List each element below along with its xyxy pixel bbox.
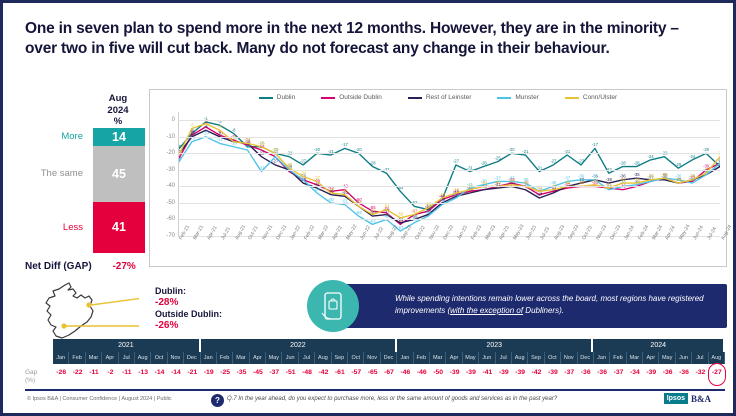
chart-y-tick-label: -40 bbox=[166, 183, 175, 189]
chart-series-lines: -18-8-1-3-8-16-16-20-22-27-20-21-17-20-2… bbox=[178, 112, 720, 236]
chart-data-label: -59 bbox=[397, 212, 404, 217]
timeline-gap-cell: -26 bbox=[53, 364, 69, 385]
footer-source: © Ipsos B&A | Consumer Confidence | Augu… bbox=[27, 396, 172, 402]
timeline-gap-cell: -46 bbox=[414, 364, 430, 385]
timeline-month-cell: Nov bbox=[364, 352, 380, 364]
chart-data-label: -16 bbox=[258, 141, 265, 146]
timeline-gap-cell: -50 bbox=[430, 364, 446, 385]
chart-y-axis bbox=[178, 112, 179, 236]
bar-segment-more-label: More bbox=[61, 131, 83, 142]
timeline-gap-cell: -2 bbox=[102, 364, 118, 385]
chart-data-label: -37 bbox=[314, 175, 321, 180]
footer-question: Q.7 In the year ahead, do you expect to … bbox=[227, 396, 557, 402]
timeline-gap-cell: -37 bbox=[610, 364, 626, 385]
chart-data-label: -20 bbox=[314, 147, 321, 152]
timeline-year-2024: 2024 bbox=[593, 339, 725, 352]
chart-y-tick-label: -30 bbox=[166, 167, 175, 173]
timeline-gap-cell: -11 bbox=[119, 364, 135, 385]
gap-label-line-1: Gap bbox=[25, 369, 53, 377]
legend-item-3[interactable]: Munster bbox=[497, 94, 538, 101]
commentary-text-part2: Dubliners). bbox=[523, 306, 564, 315]
chart-data-label: -44 bbox=[453, 187, 460, 192]
chart-data-label: -28 bbox=[481, 160, 488, 165]
timeline-gap-cell: -46 bbox=[397, 364, 413, 385]
chart-data-label: -8 bbox=[232, 127, 236, 132]
commentary-text: While spending intentions remain lower a… bbox=[395, 293, 717, 316]
timeline-month-cell: Feb bbox=[414, 352, 430, 364]
chart-data-label: -25 bbox=[495, 155, 502, 160]
chart-data-label: -50 bbox=[328, 197, 335, 202]
legend-label: Outside Dublin bbox=[339, 94, 382, 101]
chart-y-tick-label: -20 bbox=[166, 150, 175, 156]
timeline-month-cell: Dec bbox=[184, 352, 200, 364]
timeline-month-cell: Jun bbox=[479, 352, 495, 364]
chart-data-label: -60 bbox=[383, 213, 390, 218]
timeline-month-cell: Oct bbox=[151, 352, 167, 364]
stacked-bar-chart: More 14 The same 45 Less 41 bbox=[93, 128, 145, 253]
timeline-gap-cell: -37 bbox=[561, 364, 577, 385]
timeline-month-cell: Aug bbox=[709, 352, 725, 364]
chart-data-label: -38 bbox=[634, 177, 641, 182]
chart-data-label: -40 bbox=[564, 180, 571, 185]
timeline-month-cell: May bbox=[463, 352, 479, 364]
chart-data-label: -34 bbox=[300, 170, 307, 175]
chart-gridline bbox=[178, 186, 720, 187]
net-diff-label: Net Diff (GAP) bbox=[25, 261, 92, 272]
chart-data-label: -17 bbox=[342, 142, 349, 147]
bar-segment-less: Less 41 bbox=[93, 202, 145, 253]
line-chart-panel: DublinOutside DublinRest of LeinsterMuns… bbox=[149, 89, 727, 267]
timeline-month-cell: Oct bbox=[545, 352, 561, 364]
commentary-icon-circle bbox=[307, 280, 359, 332]
chart-data-label: -45 bbox=[342, 189, 349, 194]
footer-divider bbox=[25, 389, 725, 391]
chart-data-label: -27 bbox=[578, 159, 585, 164]
chart-data-label: -27 bbox=[453, 159, 460, 164]
timeline-month-cell: Jan bbox=[201, 352, 217, 364]
chart-data-label: -54 bbox=[383, 203, 390, 208]
timeline-gap-cell: -11 bbox=[86, 364, 102, 385]
page-title: One in seven plan to spend more in the n… bbox=[25, 19, 685, 59]
chart-data-label: -17 bbox=[592, 142, 599, 147]
chart-data-label: -39 bbox=[592, 179, 599, 184]
timeline-month-cell: Dec bbox=[381, 352, 397, 364]
chart-data-label: -39 bbox=[509, 179, 516, 184]
chart-data-label: -20 bbox=[272, 147, 279, 152]
callout-dublin: Dublin: -28% bbox=[155, 286, 186, 310]
timeline-gap-cell: -14 bbox=[151, 364, 167, 385]
timeline-month-cell: Dec bbox=[578, 352, 594, 364]
chart-gridline bbox=[178, 219, 720, 220]
timeline-month-cell: Jul bbox=[119, 352, 135, 364]
chart-data-label: -14 bbox=[244, 137, 251, 142]
chart-data-label: -28 bbox=[370, 160, 377, 165]
chart-data-label: -24 bbox=[647, 154, 654, 159]
ireland-map-icon bbox=[29, 281, 139, 343]
chart-data-label: -57 bbox=[370, 208, 377, 213]
timeline-table: 2021202220232024 JanFebMarAprJulAugOctNo… bbox=[25, 339, 725, 385]
chart-data-label: -38 bbox=[675, 177, 682, 182]
chart-data-label: -40 bbox=[481, 180, 488, 185]
map-dot-outside-dublin bbox=[61, 323, 66, 328]
callout-outside-dublin: Outside Dublin: -26% bbox=[155, 309, 222, 333]
chart-data-label: -40 bbox=[578, 180, 585, 185]
timeline-gap-cells: -26-22-11-2-11-13-14-14-21-19-25-35-45-3… bbox=[53, 364, 725, 385]
chart-y-tick-label: -70 bbox=[166, 233, 175, 239]
timeline-gap-cell: -39 bbox=[463, 364, 479, 385]
timeline-month-cell: Jan bbox=[397, 352, 413, 364]
legend-item-1[interactable]: Outside Dublin bbox=[321, 94, 382, 101]
bar-segment-less-value: 41 bbox=[112, 220, 126, 234]
timeline-gap-cell: -39 bbox=[512, 364, 528, 385]
chart-data-label: -47 bbox=[536, 192, 543, 197]
timeline-gap-cell: -45 bbox=[250, 364, 266, 385]
legend-label: Dublin bbox=[277, 94, 295, 101]
ba-logo: B&A bbox=[691, 394, 711, 404]
timeline-gap-cell: -42 bbox=[528, 364, 544, 385]
timeline-month-cell: Sep bbox=[528, 352, 544, 364]
commentary-text-underlined: with the exception of bbox=[450, 306, 523, 315]
timeline-gap-row: Gap (%) -26-22-11-2-11-13-14-14-21-19-25… bbox=[25, 364, 725, 385]
timeline-gap-cell: -21 bbox=[184, 364, 200, 385]
timeline-month-cell: Nov bbox=[168, 352, 184, 364]
column-header-line-1: Aug bbox=[87, 93, 149, 105]
legend-swatch-icon bbox=[259, 97, 273, 99]
chart-data-label: -5 bbox=[190, 122, 194, 127]
bar-segment-more: More 14 bbox=[93, 128, 145, 146]
chart-data-label: -44 bbox=[314, 187, 321, 192]
timeline-gap-cell: -67 bbox=[381, 364, 397, 385]
legend-item-0[interactable]: Dublin bbox=[259, 94, 295, 101]
net-diff-row: Net Diff (GAP) -27% bbox=[25, 261, 136, 272]
timeline-month-cell: Apr bbox=[102, 352, 118, 364]
timeline-year-2022: 2022 bbox=[201, 339, 397, 352]
commentary-banner: While spending intentions remain lower a… bbox=[325, 284, 727, 328]
bar-segment-the-same-label: The same bbox=[41, 168, 83, 179]
column-header-line-3: % bbox=[87, 116, 149, 128]
question-mark-icon: ? bbox=[211, 394, 224, 407]
timeline-month-cell: Mar bbox=[627, 352, 643, 364]
chart-data-label: -40 bbox=[522, 180, 529, 185]
timeline-month-cells: JanFebMarAprJulAugOctNovDecJanFebMarAprM… bbox=[53, 352, 725, 364]
timeline-gap-cell: -57 bbox=[348, 364, 364, 385]
chart-data-label: -35 bbox=[661, 172, 668, 177]
timeline-month-row-spacer bbox=[25, 352, 53, 364]
timeline-gap-cell: -36 bbox=[659, 364, 675, 385]
timeline-gap-cell: -32 bbox=[692, 364, 708, 385]
chart-data-label: -29 bbox=[675, 162, 682, 167]
timeline-gap-cell: -39 bbox=[496, 364, 512, 385]
chart-gridline bbox=[178, 203, 720, 204]
timeline-month-cell: May bbox=[266, 352, 282, 364]
chart-data-label: -20 bbox=[509, 147, 516, 152]
chart-data-label: -58 bbox=[356, 210, 363, 215]
timeline-month-cell: Jul bbox=[496, 352, 512, 364]
timeline-gap-cell: -65 bbox=[364, 364, 380, 385]
legend-item-2[interactable]: Rest of Leinster bbox=[408, 94, 472, 101]
timeline-month-cell: Mar bbox=[233, 352, 249, 364]
timeline-month-cell: Jan bbox=[53, 352, 69, 364]
chart-gridline bbox=[178, 137, 720, 138]
timeline-month-cell: Mar bbox=[86, 352, 102, 364]
callout-dublin-value: -28% bbox=[155, 297, 186, 310]
legend-swatch-icon bbox=[497, 97, 511, 99]
timeline-month-cell: Mar bbox=[430, 352, 446, 364]
bar-segment-the-same: The same 45 bbox=[93, 146, 145, 202]
timeline-month-cell: Sep bbox=[332, 352, 348, 364]
ireland-map bbox=[29, 281, 139, 343]
timeline-gap-cell: -35 bbox=[233, 364, 249, 385]
chart-data-label: -38 bbox=[620, 177, 627, 182]
chart-data-label: -29 bbox=[286, 162, 293, 167]
ipsos-logo: Ipsos bbox=[664, 393, 688, 404]
timeline-gap-cell: -36 bbox=[578, 364, 594, 385]
timeline-month-cell: Apr bbox=[446, 352, 462, 364]
bar-segment-the-same-value: 45 bbox=[112, 167, 126, 181]
chart-data-label: -24 bbox=[689, 154, 696, 159]
chart-data-label: -28 bbox=[620, 160, 627, 165]
chart-y-tick-label: -10 bbox=[166, 134, 175, 140]
legend-swatch-icon bbox=[321, 97, 335, 99]
timeline-gap-cell: -37 bbox=[266, 364, 282, 385]
stacked-bar-column-header: Aug 2024 % bbox=[87, 93, 149, 128]
net-diff-value: -27% bbox=[112, 261, 135, 272]
chart-data-label: -27 bbox=[300, 159, 307, 164]
chart-data-label: -44 bbox=[328, 187, 335, 192]
legend-swatch-icon bbox=[565, 97, 579, 99]
timeline-gap-cell: -13 bbox=[135, 364, 151, 385]
chart-legend: DublinOutside DublinRest of LeinsterMuns… bbox=[150, 94, 726, 101]
bar-segment-more-value: 14 bbox=[112, 130, 126, 144]
timeline-gap-cell: -41 bbox=[479, 364, 495, 385]
bar-segment-less-label: Less bbox=[63, 222, 83, 233]
mobile-shopping-icon bbox=[320, 291, 346, 321]
timeline-gap-cell: -34 bbox=[627, 364, 643, 385]
chart-gridline bbox=[178, 120, 720, 121]
callout-outside-dublin-label: Outside Dublin: bbox=[155, 309, 222, 320]
legend-item-4[interactable]: Conn/Ulster bbox=[565, 94, 617, 101]
timeline-month-cell: Apr bbox=[250, 352, 266, 364]
timeline-gap-cell: -22 bbox=[69, 364, 85, 385]
chart-gridline bbox=[178, 170, 720, 171]
chart-y-tick-label: 0 bbox=[172, 117, 175, 123]
timeline-month-cell: Jul bbox=[692, 352, 708, 364]
timeline-month-cell: Feb bbox=[217, 352, 233, 364]
timeline-gap-cell: -51 bbox=[282, 364, 298, 385]
timeline-month-cell: Jun bbox=[676, 352, 692, 364]
timeline-year-row: 2021202220232024 bbox=[25, 339, 725, 352]
timeline-month-cell: Apr bbox=[643, 352, 659, 364]
chart-data-label: -20 bbox=[356, 147, 363, 152]
timeline-year-row-spacer bbox=[25, 339, 53, 352]
timeline-month-cell: Oct bbox=[348, 352, 364, 364]
timeline-gap-cell: -61 bbox=[332, 364, 348, 385]
timeline-gap-cell: -36 bbox=[594, 364, 610, 385]
timeline-gap-cell: -39 bbox=[643, 364, 659, 385]
timeline-month-cell: Feb bbox=[610, 352, 626, 364]
timeline-month-cell: Jan bbox=[594, 352, 610, 364]
timeline-month-cell: Jul bbox=[299, 352, 315, 364]
timeline-month-row: JanFebMarAprJulAugOctNovDecJanFebMarAprM… bbox=[25, 352, 725, 364]
timeline-gap-cell: -39 bbox=[446, 364, 462, 385]
chart-data-label: -36 bbox=[689, 174, 696, 179]
timeline-month-cell: Feb bbox=[69, 352, 85, 364]
chart-data-label: -28 bbox=[634, 160, 641, 165]
timeline-gap-cell: -14 bbox=[168, 364, 184, 385]
legend-label: Munster bbox=[515, 94, 538, 101]
timeline-month-cell: Aug bbox=[512, 352, 528, 364]
timeline-month-cell: Aug bbox=[315, 352, 331, 364]
timeline-gap-cell: -39 bbox=[545, 364, 561, 385]
chart-data-label: -57 bbox=[411, 208, 418, 213]
timeline-gap-cell: -42 bbox=[315, 364, 331, 385]
timeline-gap-row-label: Gap (%) bbox=[25, 364, 53, 385]
timeline-year-2023: 2023 bbox=[397, 339, 593, 352]
gap-label-line-2: (%) bbox=[25, 377, 53, 385]
timeline-gap-cell: -19 bbox=[201, 364, 217, 385]
chart-plot-area: -18-8-1-3-8-16-16-20-22-27-20-21-17-20-2… bbox=[178, 112, 720, 236]
timeline-gap-cell: -36 bbox=[676, 364, 692, 385]
brand-logo: Ipsos B&A bbox=[664, 393, 711, 404]
timeline-month-cell: May bbox=[659, 352, 675, 364]
timeline-month-cell: Jun bbox=[282, 352, 298, 364]
chart-data-label: -20 bbox=[703, 147, 710, 152]
chart-data-label: -36 bbox=[647, 174, 654, 179]
timeline-gap-cell: -27 bbox=[709, 364, 725, 385]
callout-dublin-label: Dublin: bbox=[155, 286, 186, 297]
chart-gridline bbox=[178, 153, 720, 154]
timeline-year-cells: 2021202220232024 bbox=[53, 339, 725, 352]
chart-x-tick-label: Aug-24 bbox=[720, 224, 733, 241]
chart-data-label: -10 bbox=[203, 131, 210, 136]
map-dot-dublin bbox=[86, 302, 91, 307]
timeline-gap-cell: -25 bbox=[217, 364, 233, 385]
legend-label: Conn/Ulster bbox=[583, 94, 617, 101]
chart-data-label: -14 bbox=[217, 137, 224, 142]
chart-data-label: -40 bbox=[495, 180, 502, 185]
callout-outside-dublin-value: -26% bbox=[155, 320, 222, 333]
slide-root: One in seven plan to spend more in the n… bbox=[0, 0, 736, 416]
legend-label: Rest of Leinster bbox=[426, 94, 472, 101]
chart-data-label: -27 bbox=[550, 159, 557, 164]
chart-y-tick-label: -50 bbox=[166, 200, 175, 206]
legend-swatch-icon bbox=[408, 97, 422, 99]
timeline-month-cell: Nov bbox=[561, 352, 577, 364]
chart-data-label: -58 bbox=[425, 210, 432, 215]
timeline-month-cell: Aug bbox=[135, 352, 151, 364]
chart-y-tick-label: -60 bbox=[166, 216, 175, 222]
column-header-line-2: 2024 bbox=[87, 105, 149, 117]
timeline-year-2021: 2021 bbox=[53, 339, 201, 352]
chart-data-label: -36 bbox=[578, 174, 585, 179]
timeline-gap-cell: -48 bbox=[299, 364, 315, 385]
chart-data-label: -47 bbox=[439, 192, 446, 197]
